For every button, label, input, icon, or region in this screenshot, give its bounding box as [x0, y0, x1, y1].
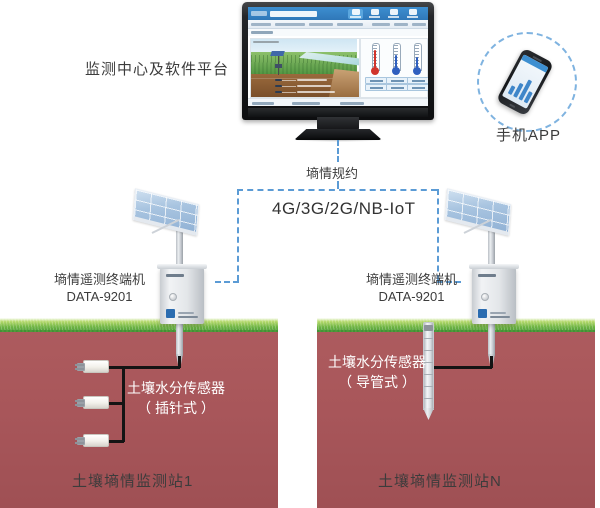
solar-panel-left [133, 188, 199, 235]
station-left-sensor-label-line1: 土壤水分传感器 [116, 378, 236, 398]
cabinet-lock-icon-left [169, 293, 177, 301]
cabinet-brand-logo-left [166, 309, 175, 318]
illustration-leader-1 [282, 80, 296, 81]
app-header-bar [248, 7, 428, 20]
cable-left-branch-3 [108, 440, 124, 443]
illustration-sensor-2 [275, 85, 282, 87]
station-right-sensor-label-line1: 土壤水分传感器 [322, 352, 432, 372]
app-logo-icon [251, 11, 267, 16]
illustration-topbar-text [253, 41, 279, 43]
monitor-workstation [242, 2, 434, 129]
nav-icon-analysis[interactable] [386, 9, 401, 19]
link-horizontal-bus [237, 189, 437, 191]
cabinet-brand-logo-right [478, 309, 487, 318]
station-right-terminal-name: 墒情遥测终端机 [366, 271, 457, 288]
pin-sensor-3 [75, 434, 109, 447]
cabinet-lock-icon-right [481, 293, 489, 301]
station-right-solar-assembly [446, 196, 512, 236]
link-monitor-down [337, 140, 339, 162]
illustration-terminal-box [275, 64, 282, 68]
protocol-label: 墒情规约 [306, 163, 358, 182]
station-left-terminal-model: DATA-9201 [54, 288, 145, 305]
link-label-to-bus [337, 181, 339, 189]
station-left-solar-assembly [134, 196, 200, 236]
solar-panel-right [445, 188, 511, 235]
app-subnav-bar [248, 20, 428, 29]
terminal-cabinet-left[interactable] [160, 268, 204, 324]
link-right-riser [437, 189, 439, 281]
monitor-chin [248, 108, 428, 117]
gauge-air-temperature [365, 43, 385, 95]
gauge-panel [360, 38, 428, 98]
illustration-leader-2 [282, 86, 296, 87]
station-right-terminal-model: DATA-9201 [366, 288, 457, 305]
cable-left-branch-1 [108, 366, 124, 369]
illustration-sensor-3 [275, 91, 282, 93]
nav-icon-query[interactable] [367, 9, 382, 19]
monitor-screen[interactable] [248, 7, 428, 106]
mobile-app-label: 手机APP [496, 124, 561, 145]
bearer-label: 4G/3G/2G/NB-IoT [272, 199, 416, 219]
station-left-caption: 土壤墒情监测站1 [72, 470, 193, 491]
nav-icon-settings[interactable] [405, 9, 420, 19]
illustration-leader-3 [282, 92, 296, 93]
illustration-caption-2 [297, 85, 331, 87]
station-left-terminal-label: 墒情遥测终端机 DATA-9201 [54, 271, 145, 305]
illustration-caption-3 [297, 91, 335, 93]
link-left-to-cabinet [215, 281, 239, 283]
nav-icon-monitor[interactable] [348, 9, 363, 19]
link-left-riser [237, 189, 239, 281]
station-right-caption: 土壤墒情监测站N [378, 470, 502, 491]
station-right-sensor-label: 土壤水分传感器 （ 导管式 ） [322, 352, 432, 392]
gauge-soil-moisture [407, 43, 427, 95]
gauge-soil-temperature [386, 43, 406, 95]
diagram-canvas: 监测中心及软件平台 手机APP 墒情规约 [0, 0, 600, 508]
monitor-bezel [242, 2, 434, 120]
terminal-cabinet-right[interactable] [472, 268, 516, 324]
cable-left-run [122, 366, 180, 369]
station-left-terminal-name: 墒情遥测终端机 [54, 271, 145, 288]
station-left-sensor-label: 土壤水分传感器 （ 插针式 ） [116, 378, 236, 418]
cable-right-run [430, 366, 492, 369]
illustration-caption-1 [297, 79, 327, 81]
pin-sensor-1 [75, 360, 109, 373]
app-content-area [248, 36, 428, 98]
illustration-solar-panel [270, 51, 285, 56]
station-right-terminal-label: 墒情遥测终端机 DATA-9201 [366, 271, 457, 305]
station-right-sensor-label-line2: （ 导管式 ） [322, 372, 432, 392]
field-cross-section-illustration [250, 38, 360, 98]
station-left-sensor-label-line2: （ 插针式 ） [116, 398, 236, 418]
app-title-text [270, 11, 317, 17]
illustration-sensor-1 [275, 79, 282, 81]
app-status-bar [248, 98, 428, 106]
monitoring-center-label: 监测中心及软件平台 [85, 58, 229, 79]
pin-sensor-2 [75, 396, 109, 409]
monitor-neck [317, 117, 359, 131]
mobile-app-node[interactable] [477, 32, 581, 136]
